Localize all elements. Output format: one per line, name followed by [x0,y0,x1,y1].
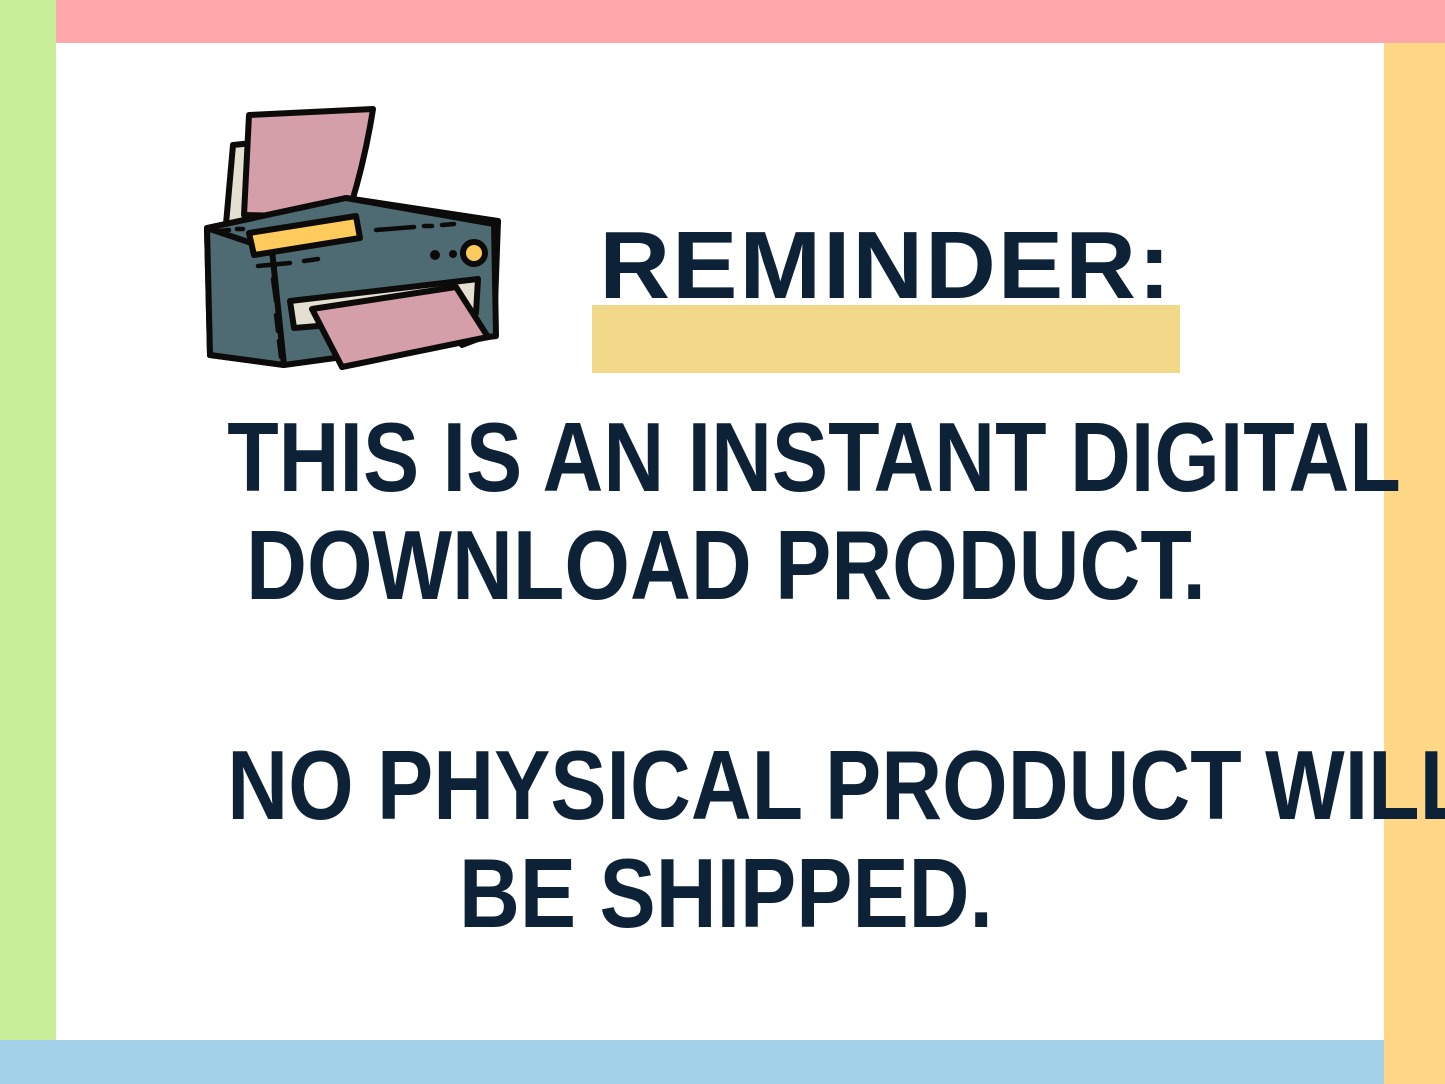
decorative-band-top-pink [56,0,1445,43]
page-title: REMINDER: [580,218,1192,314]
copy-line: DOWNLOAD PRODUCT. [227,511,1225,619]
printer-detail-dash-3 [258,263,290,266]
printer-button-dot-1 [430,250,440,260]
decorative-band-right-yellow [1384,43,1445,1084]
copy-line: NO PHYSICAL PRODUCT WILL [227,731,1225,839]
printer-seam-3 [279,341,281,357]
printer-led-icon [463,242,485,264]
decorative-band-bottom-blue [0,1040,1384,1084]
body-copy-block: THIS IS AN INSTANT DIGITAL DOWNLOAD PROD… [146,403,1306,947]
printer-seam-1 [273,279,276,301]
printer-icon [186,93,526,398]
paragraph-spacer [146,619,1306,731]
decorative-band-left-green [0,0,56,1040]
printer-detail-dash-5 [376,227,414,230]
printer-detail-dash-7 [442,224,454,225]
copy-line: BE SHIPPED. [227,839,1225,947]
copy-line: THIS IS AN INSTANT DIGITAL [227,403,1225,511]
printer-detail-dash-1 [219,230,229,231]
printer-detail-dash-4 [304,259,318,261]
poster-content-area: REMINDER: THIS IS AN INSTANT DIGITAL DOW… [56,43,1384,1040]
headline-block: REMINDER: [586,218,1186,353]
paragraph-no-shipping: NO PHYSICAL PRODUCT WILL BE SHIPPED. [146,731,1306,947]
poster-canvas: REMINDER: THIS IS AN INSTANT DIGITAL DOW… [0,0,1445,1084]
printer-seam-2 [276,315,278,331]
paragraph-instant-download: THIS IS AN INSTANT DIGITAL DOWNLOAD PROD… [146,403,1306,619]
printer-button-dot-2 [449,250,457,258]
